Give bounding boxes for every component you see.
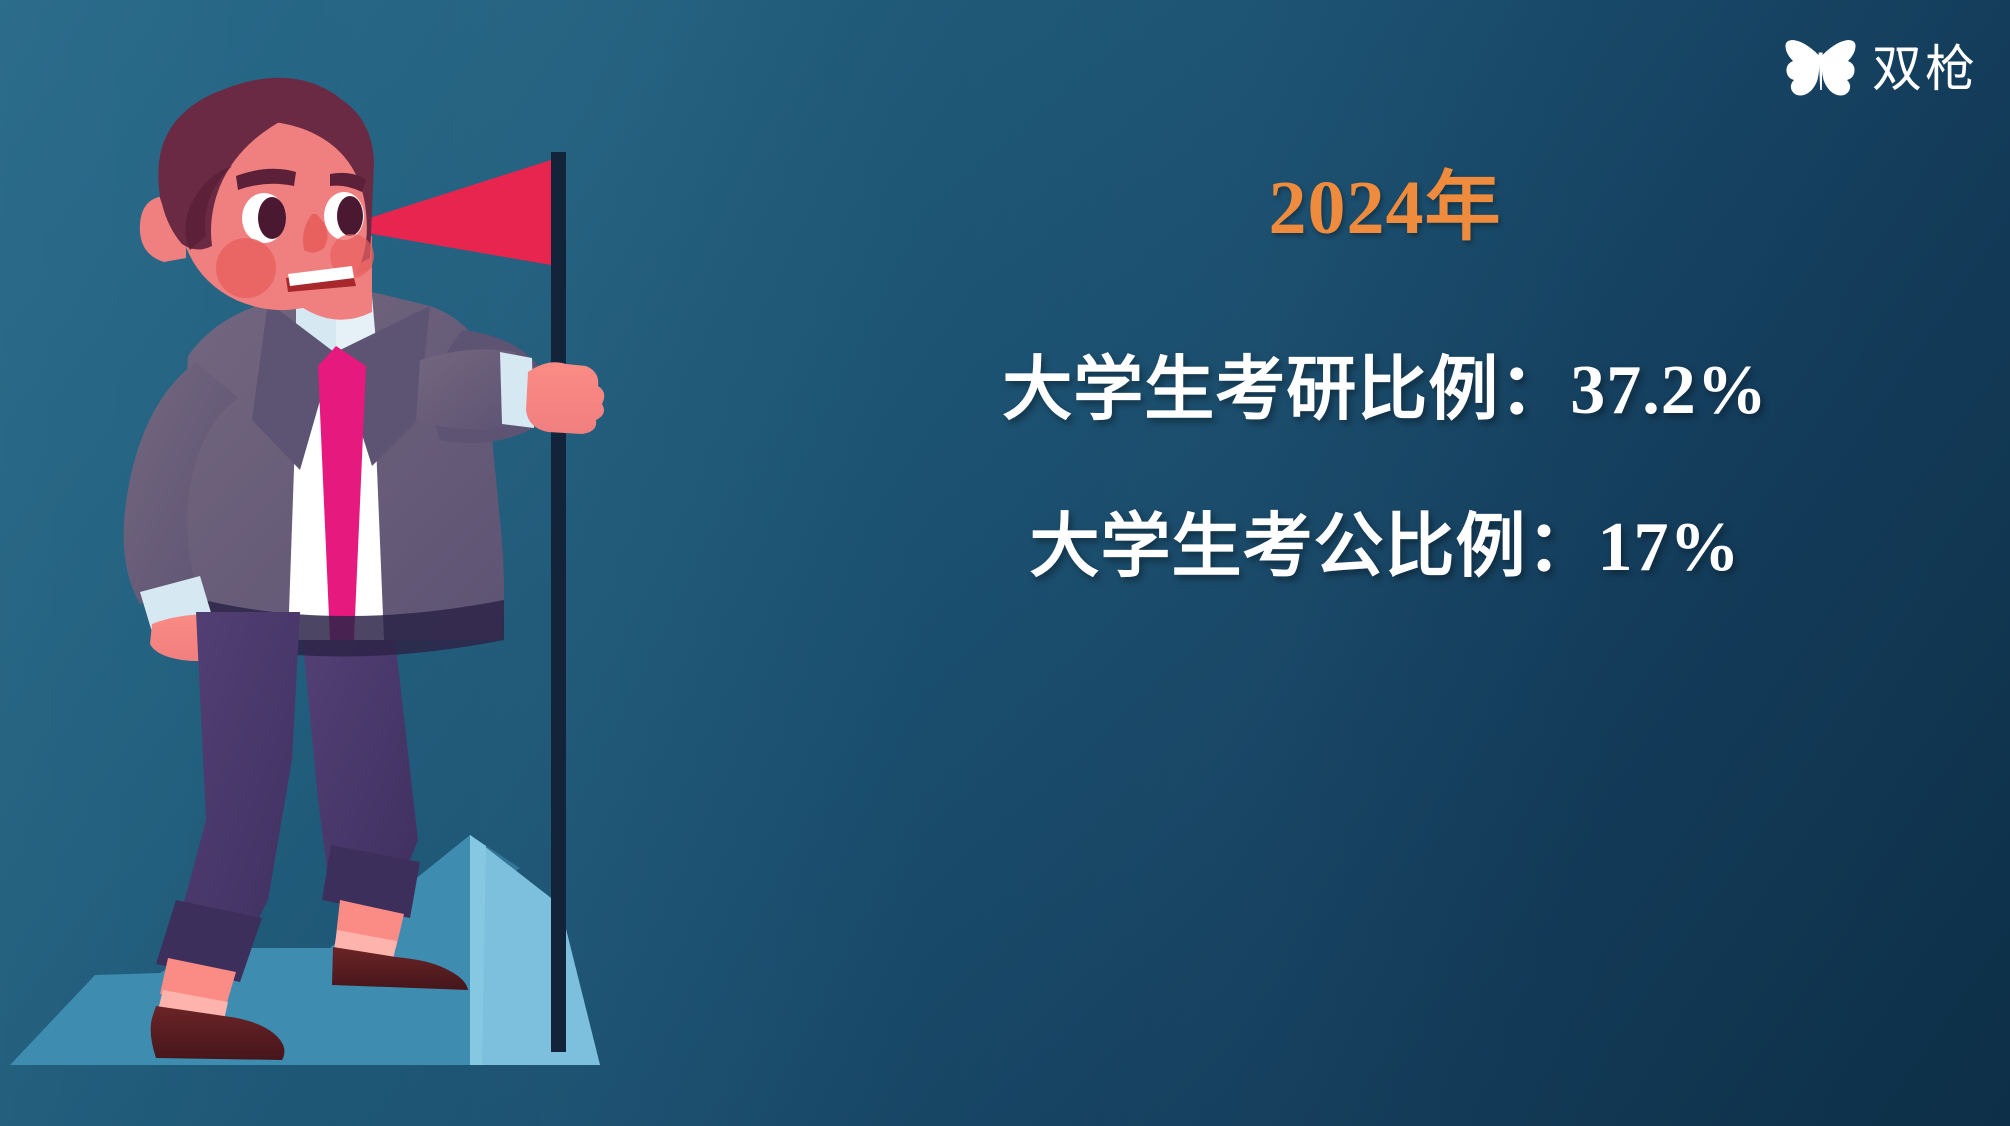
character-head — [140, 78, 374, 310]
butterfly-icon — [1784, 38, 1858, 100]
flag-pole — [551, 152, 566, 1052]
stat-line-kaogong: 大学生考公比例：17% — [880, 507, 1890, 590]
mountain-shape — [10, 835, 600, 1065]
brand-logo: 双枪 — [1784, 38, 1978, 100]
stat-line-kaoyan: 大学生考研比例：37.2% — [880, 350, 1890, 433]
brand-name: 双枪 — [1872, 44, 1978, 94]
stats-text-block: 2024年 大学生考研比例：37.2% 大学生考公比例：17% — [880, 170, 1890, 589]
character-torso — [178, 236, 504, 657]
illustration-businessman-flag — [0, 0, 800, 1126]
year-heading: 2024年 — [880, 170, 1890, 246]
character-hand — [526, 362, 604, 434]
slide-canvas: 2024年 大学生考研比例：37.2% 大学生考公比例：17% 双枪 — [0, 0, 2010, 1126]
